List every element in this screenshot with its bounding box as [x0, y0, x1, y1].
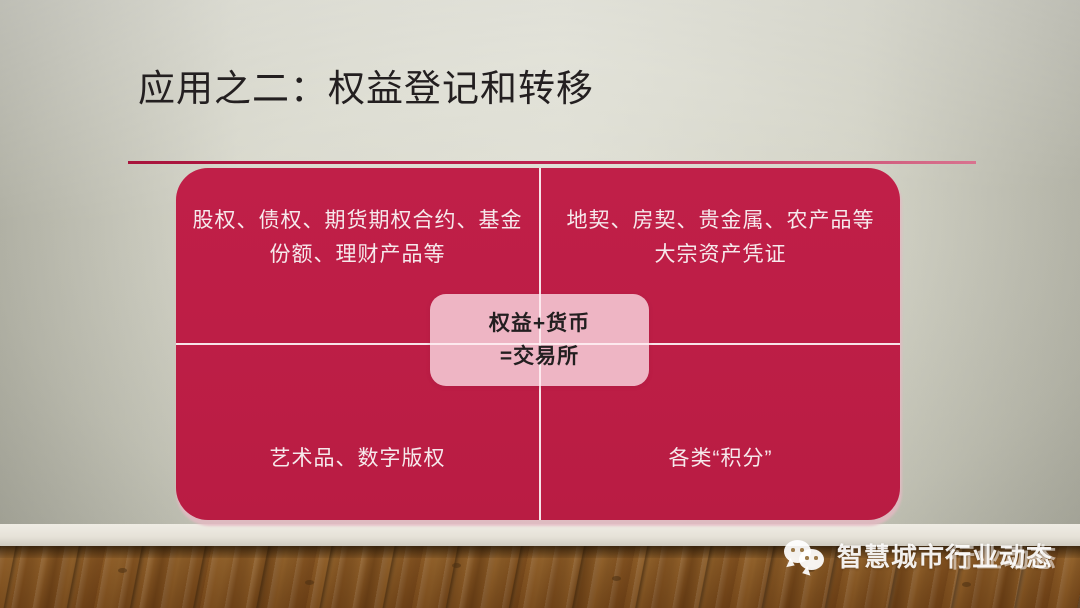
wechat-dot: [805, 556, 809, 560]
wechat-dot: [791, 548, 795, 552]
wood-knot: [962, 582, 971, 587]
wood-knot: [118, 568, 127, 573]
wechat-dot: [814, 556, 818, 560]
slide-title: 应用之二：权益登记和转移: [138, 66, 594, 112]
wechat-icon: [784, 540, 828, 574]
quadrant-bottom-left-label: 艺术品、数字版权: [270, 442, 446, 476]
quadrant-top-left-label: 股权、债权、期货期权合约、基金份额、理财产品等: [192, 204, 523, 272]
wood-knot: [452, 563, 461, 568]
wood-knot: [305, 580, 314, 585]
center-callout-line2: =交易所: [500, 345, 579, 369]
watermark: 智慧城市行业动态 行业动态: [784, 540, 1053, 574]
title-accent-rule: [128, 161, 976, 164]
wood-knot: [612, 576, 621, 581]
center-callout-box[interactable]: 权益+货币 =交易所: [430, 294, 649, 386]
quadrant-top-right-label: 地契、房契、贵金属、农产品等大宗资产凭证: [557, 204, 884, 272]
watermark-text: 智慧城市行业动态: [837, 542, 1053, 572]
quadrant-bottom-right-label: 各类“积分”: [669, 442, 773, 476]
center-callout-line1: 权益+货币: [489, 312, 590, 336]
presentation-slide: 应用之二：权益登记和转移 股权、债权、期货期权合约、基金份额、理财产品等 地契、…: [0, 0, 1080, 608]
